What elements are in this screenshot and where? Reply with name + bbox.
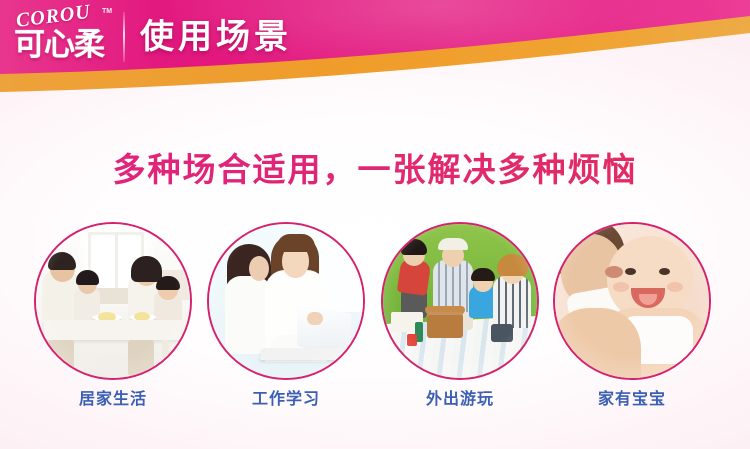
header-divider <box>123 12 125 62</box>
scenario-photo-ring <box>34 222 192 380</box>
scenario-caption: 居家生活 <box>34 385 192 409</box>
photo-two-women-working-on-laptop <box>209 224 363 378</box>
scenario-item-home[interactable]: 居家生活 <box>34 222 192 380</box>
promo-banner-page: COROU TM 可心柔 使用场景 多种场合适用，一张解决多种烦恼 <box>0 0 750 449</box>
photo-family-picnic-on-grass <box>383 224 537 378</box>
scenario-photo-ring <box>553 222 711 380</box>
header-title: 使用场景 <box>140 14 292 60</box>
page-title: 多种场合适用，一张解决多种烦恼 <box>0 143 750 191</box>
scenario-item-outdoor[interactable]: 外出游玩 <box>381 222 539 380</box>
scenario-caption: 外出游玩 <box>381 385 539 409</box>
brand-logo[interactable]: COROU TM 可心柔 <box>14 4 114 66</box>
page-header: COROU TM 可心柔 使用场景 <box>0 0 750 100</box>
brand-logo-chinese-text: 可心柔 <box>14 24 114 66</box>
scenario-photo-ring <box>207 222 365 380</box>
photo-mother-kissing-smiling-baby <box>555 224 709 378</box>
scenario-list: 居家生活 工作学习 <box>0 222 750 382</box>
scenario-photo-ring <box>381 222 539 380</box>
trademark-icon: TM <box>102 8 112 15</box>
scenario-caption: 工作学习 <box>207 385 365 409</box>
scenario-item-baby[interactable]: 家有宝宝 <box>553 222 711 380</box>
scenario-caption: 家有宝宝 <box>553 385 711 409</box>
photo-family-dining-at-home <box>36 224 190 378</box>
scenario-item-work[interactable]: 工作学习 <box>207 222 365 380</box>
